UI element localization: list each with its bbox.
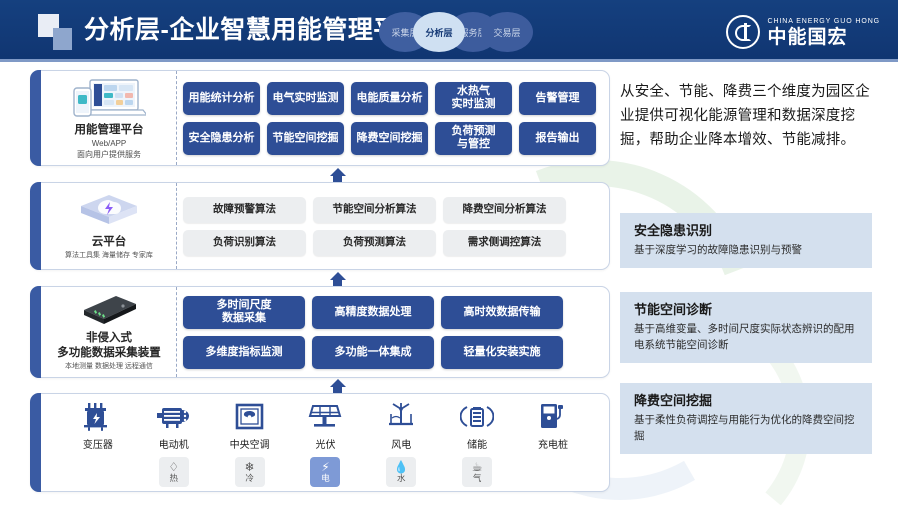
energy-tag-label: 电 [321, 473, 330, 483]
chip-row: 负荷识别算法 负荷预测算法 需求侧调控算法 [183, 230, 603, 256]
section-device-identity: 非侵入式 多功能数据采集装置 本地测量 数据处理 远程通信 [42, 287, 177, 377]
section-subtitle-1: Web/APP [92, 138, 127, 149]
section-cloud-chips: 故障预警算法 节能空间分析算法 降费空间分析算法 负荷识别算法 负荷预测算法 需… [183, 183, 603, 269]
cloud-platform-box-icon [77, 191, 141, 231]
solar-panel-icon [308, 402, 342, 432]
equipment-label: 变压器 [83, 436, 113, 451]
page-title: 分析层-企业智慧用能管理平台 [84, 13, 424, 47]
chip-power-quality-analysis[interactable]: 电能质量分析 [351, 82, 428, 115]
section-acquisition-device: 非侵入式 多功能数据采集装置 本地测量 数据处理 远程通信 多时间尺度数据采集 … [30, 286, 610, 378]
layer-chip-trade[interactable]: 交易层 [481, 12, 533, 52]
section-platform-chips: 用能统计分析 电气实时监测 电能质量分析 水热气实时监测 告警管理 安全隐患分析… [183, 71, 603, 165]
chip-energy-statistics[interactable]: 用能统计分析 [183, 82, 260, 115]
section-cloud-identity: 云平台 算法工具集 海量储存 专家库 [42, 183, 177, 269]
equipment-label: 中央空调 [230, 436, 270, 451]
chip-lightweight-installation[interactable]: 轻量化安装实施 [441, 336, 563, 369]
chip-water-heat-gas-monitoring[interactable]: 水热气实时监测 [435, 82, 512, 115]
energy-tag-label: 水 [397, 473, 406, 483]
chip-row: 安全隐患分析 节能空间挖掘 降费空间挖掘 负荷预测与管控 报告输出 [183, 122, 603, 155]
chip-electrical-realtime-monitoring[interactable]: 电气实时监测 [267, 82, 344, 115]
transformer-icon [81, 402, 115, 432]
chip-report-output[interactable]: 报告输出 [519, 122, 596, 155]
section-accent-bar [30, 70, 41, 166]
feature-card-desc: 基于高维变量、多时间尺度实际状态辨识的配用电系统节能空间诊断 [634, 321, 860, 353]
gas-burner-icon: ☕ [472, 461, 483, 473]
section-title: 云平台 [92, 235, 127, 250]
chip-multifunction-integration[interactable]: 多功能一体集成 [312, 336, 434, 369]
section-subtitle-1: 算法工具集 海量储存 专家库 [65, 250, 153, 261]
equipment-wind[interactable]: 风电 💧 水 [368, 402, 434, 487]
chip-row: 多时间尺度数据采集 高精度数据处理 高时效数据传输 [183, 296, 603, 329]
chip-high-precision-processing[interactable]: 高精度数据处理 [312, 296, 434, 329]
chip-fault-warning-algorithm[interactable]: 故障预警算法 [183, 197, 306, 223]
chip-load-forecast-algorithm[interactable]: 负荷预测算法 [313, 230, 436, 256]
equipment-central-ac[interactable]: 中央空调 ❄ 冷 [217, 402, 283, 487]
equipment-label: 光伏 [315, 436, 335, 451]
chip-energy-saving-mining[interactable]: 节能空间挖掘 [267, 122, 344, 155]
feature-card-energy-saving[interactable]: 节能空间诊断 基于高维变量、多时间尺度实际状态辨识的配用电系统节能空间诊断 [620, 292, 872, 363]
energy-tag-electricity[interactable]: ⚡ 电 [310, 457, 340, 487]
energy-tag-label: 气 [473, 473, 482, 483]
equipment-label: 风电 [391, 436, 411, 451]
equipment-label: 储能 [467, 436, 487, 451]
flame-icon: ♢ [168, 461, 179, 473]
section-title: 非侵入式 多功能数据采集装置 [57, 331, 161, 361]
layer-stepper: 采集层 服务层 交易层 分析层 [379, 12, 529, 52]
section-accent-bar [30, 182, 41, 270]
feature-card-title: 安全隐患识别 [634, 222, 860, 240]
section-title-line2: 多功能数据采集装置 [57, 346, 161, 361]
section-title-line1: 非侵入式 [57, 331, 161, 346]
chip-demand-side-control-algorithm[interactable]: 需求侧调控算法 [443, 230, 566, 256]
chip-row: 多维度指标监测 多功能一体集成 轻量化安装实施 [183, 336, 603, 369]
section-equipment-row: 变压器 [30, 393, 610, 492]
layer-chip-label: 交易层 [493, 26, 520, 39]
brand-square-mark-icon [38, 14, 74, 50]
chip-load-identification-algorithm[interactable]: 负荷识别算法 [183, 230, 306, 256]
chip-multi-dimension-monitoring[interactable]: 多维度指标监测 [183, 336, 305, 369]
layer-chip-label: 分析层 [425, 26, 452, 39]
architecture-stack: 用能管理平台 Web/APP 面向用户提供服务 用能统计分析 电气实时监测 电能… [30, 70, 610, 492]
feature-card-title: 节能空间诊断 [634, 301, 860, 319]
equipment-storage[interactable]: 储能 ☕ 气 [444, 402, 510, 487]
equipment-motor[interactable]: 电动机 ♢ 热 [141, 402, 207, 487]
section-platform: 用能管理平台 Web/APP 面向用户提供服务 用能统计分析 电气实时监测 电能… [30, 70, 610, 166]
feature-card-desc: 基于深度学习的故障隐患识别与预警 [634, 242, 860, 258]
motor-icon [157, 402, 191, 432]
feature-card-safety[interactable]: 安全隐患识别 基于深度学习的故障隐患识别与预警 [620, 213, 872, 268]
logo-circle-g-icon [726, 15, 760, 49]
section-subtitle-2: 面向用户提供服务 [77, 149, 141, 160]
equipment-solar[interactable]: 光伏 ⚡ 电 [292, 402, 358, 487]
up-arrow-cloud [330, 272, 346, 286]
logo-english-name: CHINA ENERGY GUO HONG [767, 17, 880, 27]
chip-alarm-management[interactable]: 告警管理 [519, 82, 596, 115]
section-device-chips: 多时间尺度数据采集 高精度数据处理 高时效数据传输 多维度指标监测 多功能一体集… [183, 287, 603, 377]
chip-multi-timescale-acquisition[interactable]: 多时间尺度数据采集 [183, 296, 305, 329]
intro-paragraph: 从安全、节能、降费三个维度为园区企业提供可视化能源管理和数据深度挖掘，帮助企业降… [620, 80, 882, 152]
snowflake-icon: ❄ [245, 461, 255, 473]
wind-turbine-icon [384, 402, 418, 432]
chip-cost-reduction-mining[interactable]: 降费空间挖掘 [351, 122, 428, 155]
energy-tag-water[interactable]: 💧 水 [386, 457, 416, 487]
chip-energy-saving-analysis-algorithm[interactable]: 节能空间分析算法 [313, 197, 436, 223]
bolt-icon: ⚡ [321, 461, 329, 473]
energy-tag-heat[interactable]: ♢ 热 [159, 457, 189, 487]
section-accent-bar [30, 286, 41, 378]
chip-cost-reduction-analysis-algorithm[interactable]: 降费空间分析算法 [443, 197, 566, 223]
droplet-icon: 💧 [394, 461, 409, 473]
energy-tag-cooling[interactable]: ❄ 冷 [235, 457, 265, 487]
up-arrow-device [330, 379, 346, 393]
battery-storage-icon [460, 402, 494, 432]
header-bar: 分析层-企业智慧用能管理平台 采集层 服务层 交易层 分析层 CHINA ENE… [0, 0, 898, 62]
energy-tag-label: 冷 [245, 473, 254, 483]
company-logo: CHINA ENERGY GUO HONG 中能国宏 [726, 14, 880, 50]
feature-card-title: 降费空间挖掘 [634, 392, 860, 410]
up-arrow-platform [330, 168, 346, 182]
section-subtitle-1: 本地测量 数据处理 远程通信 [65, 361, 153, 372]
data-acquisition-device-icon [74, 293, 144, 327]
section-cloud: 云平台 算法工具集 海量储存 专家库 故障预警算法 节能空间分析算法 降费空间分… [30, 182, 610, 270]
chip-row: 用能统计分析 电气实时监测 电能质量分析 水热气实时监测 告警管理 [183, 82, 603, 115]
section-platform-identity: 用能管理平台 Web/APP 面向用户提供服务 [42, 71, 177, 165]
right-panel: 从安全、节能、降费三个维度为园区企业提供可视化能源管理和数据深度挖掘，帮助企业降… [620, 80, 882, 152]
equipment-list: 变压器 [42, 394, 609, 491]
air-conditioner-icon [233, 402, 267, 432]
layer-chip-analysis-active[interactable]: 分析层 [413, 12, 465, 52]
equipment-label: 充电桩 [538, 436, 568, 451]
chip-row: 故障预警算法 节能空间分析算法 降费空间分析算法 [183, 197, 603, 223]
equipment-charging-pile[interactable]: 充电桩 [520, 402, 586, 451]
laptop-phone-dashboard-icon [72, 77, 146, 119]
energy-tag-label: 热 [170, 473, 179, 483]
logo-chinese-name: 中能国宏 [767, 27, 880, 48]
equipment-transformer[interactable]: 变压器 [65, 402, 131, 451]
section-title: 用能管理平台 [75, 123, 144, 138]
chip-load-forecast-control[interactable]: 负荷预测与管控 [435, 122, 512, 155]
feature-card-cost-reduction[interactable]: 降费空间挖掘 基于柔性负荷调控与用能行为优化的降费空间挖掘 [620, 383, 872, 454]
energy-tag-gas[interactable]: ☕ 气 [462, 457, 492, 487]
chip-safety-hazard-analysis[interactable]: 安全隐患分析 [183, 122, 260, 155]
slide-canvas: 分析层-企业智慧用能管理平台 采集层 服务层 交易层 分析层 CHINA ENE… [0, 0, 898, 505]
charging-pile-icon [536, 402, 570, 432]
equipment-label: 电动机 [159, 436, 189, 451]
chip-high-timeliness-transmission[interactable]: 高时效数据传输 [441, 296, 563, 329]
feature-card-desc: 基于柔性负荷调控与用能行为优化的降费空间挖掘 [634, 412, 860, 444]
section-accent-bar [30, 393, 41, 492]
